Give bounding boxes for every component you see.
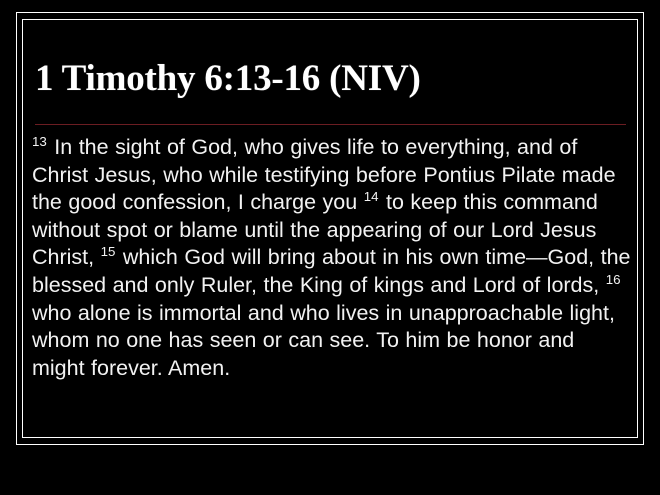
title-block: 1 Timothy 6:13-16 (NIV) [35, 57, 625, 101]
page-title: 1 Timothy 6:13-16 (NIV) [35, 57, 625, 101]
title-divider [35, 124, 626, 125]
verse-number: 13 [32, 134, 48, 149]
slide-content: 1 Timothy 6:13-16 (NIV) 13 In the sight … [22, 19, 638, 438]
presentation-slide: 1 Timothy 6:13-16 (NIV) 13 In the sight … [0, 0, 660, 495]
scripture-text: 13 In the sight of God, who gives life t… [32, 134, 632, 382]
verse-number: 14 [364, 189, 380, 204]
verse-number: 15 [101, 244, 117, 259]
verse-number: 16 [606, 272, 622, 287]
scripture-block: 13 In the sight of God, who gives life t… [32, 134, 632, 382]
